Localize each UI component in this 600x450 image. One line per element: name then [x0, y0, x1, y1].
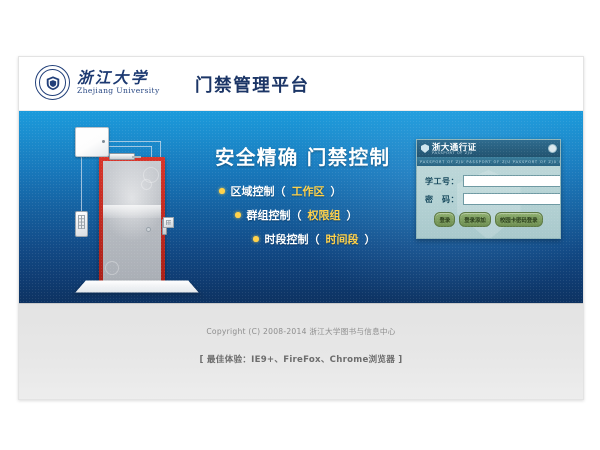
- user-id-row: 学工号：: [425, 175, 552, 187]
- login-panel-titlebar: 浙大通行证 PASSPORT OF ZJU: [417, 140, 560, 157]
- feature-item-time-control: 时段控制（时间段）: [253, 231, 376, 247]
- login-panel-subtitle: PASSPORT OF ZJU: [432, 151, 473, 155]
- logo-english-name: Zhejiang University: [77, 87, 160, 95]
- door-knob-icon: [146, 227, 151, 232]
- door-frame: [99, 157, 165, 285]
- feature-text-highlight: 时间段: [326, 231, 359, 247]
- page-container: 浙江大学 Zhejiang University 门禁管理平台: [18, 56, 584, 400]
- copyright-text: Copyright (C) 2008-2014 浙江大学图书与信息中心: [19, 304, 583, 337]
- gear-decoration-icon: [141, 179, 152, 190]
- gear-decoration-icon: [105, 261, 119, 275]
- login-form: 学工号： 密 码： 登录 登录添加 校园卡密码登录: [417, 166, 560, 227]
- door-slab: [103, 161, 161, 285]
- page-title: 门禁管理平台: [195, 72, 310, 97]
- banner-headline: 安全精确 门禁控制: [215, 141, 390, 170]
- card-reader-icon: [163, 217, 174, 228]
- feature-text-highlight: 权限组: [308, 207, 341, 223]
- bullet-dot-icon: [219, 188, 225, 194]
- browser-recommendation-text: [ 最佳体验：IE9+、FireFox、Chrome浏览器 ]: [19, 337, 583, 365]
- feature-text-main: 时段控制（: [265, 231, 320, 247]
- passport-watermark-strip: PASSPORT OF ZJU PASSPORT OF ZJU PASSPORT…: [417, 157, 560, 166]
- user-id-field[interactable]: [463, 175, 561, 187]
- passport-shield-icon: [421, 144, 429, 153]
- feature-text-highlight: 工作区: [292, 183, 325, 199]
- user-id-label: 学工号：: [425, 176, 459, 187]
- site-footer: Copyright (C) 2008-2014 浙江大学图书与信息中心 [ 最佳…: [19, 303, 583, 400]
- feature-item-area-control: 区域控制（工作区）: [219, 183, 376, 199]
- feature-item-group-control: 群组控制（权限组）: [235, 207, 376, 223]
- feature-text-main: 区域控制（: [231, 183, 286, 199]
- hero-banner: 安全精确 门禁控制 区域控制（工作区） 群组控制（权限组） 时段控制（时间段） …: [19, 111, 583, 303]
- university-logo[interactable]: 浙江大学 Zhejiang University: [35, 65, 160, 100]
- seal-shield-glyph: [45, 75, 60, 90]
- feature-text-tail: ）: [331, 183, 342, 199]
- keypad-reader-icon: [75, 211, 88, 237]
- bullet-dot-icon: [235, 212, 241, 218]
- password-row: 密 码：: [425, 193, 552, 205]
- zju-seal-icon: [35, 65, 70, 100]
- floor-platform: [75, 281, 198, 293]
- login-add-button[interactable]: 登录添加: [459, 212, 491, 227]
- bullet-dot-icon: [253, 236, 259, 242]
- feature-text-tail: ）: [347, 207, 358, 223]
- login-button-row: 登录 登录添加 校园卡密码登录: [425, 212, 552, 227]
- titlebar-button-icon[interactable]: [548, 144, 557, 153]
- wire-segment: [109, 146, 152, 147]
- logo-chinese-name: 浙江大学: [77, 70, 160, 86]
- controller-box-icon: [75, 127, 109, 157]
- feature-text-tail: ）: [365, 231, 376, 247]
- wire-segment: [81, 157, 82, 211]
- login-button[interactable]: 登录: [434, 212, 455, 227]
- campus-card-login-button[interactable]: 校园卡密码登录: [495, 212, 543, 227]
- password-label: 密 码：: [425, 194, 459, 205]
- feature-text-main: 群组控制（: [247, 207, 302, 223]
- door-access-control-illustration: [55, 119, 215, 301]
- password-field[interactable]: [463, 193, 561, 205]
- site-header: 浙江大学 Zhejiang University 门禁管理平台: [19, 57, 583, 111]
- login-panel: 浙大通行证 PASSPORT OF ZJU PASSPORT OF ZJU PA…: [416, 139, 561, 239]
- door-highlight-band: [103, 205, 161, 218]
- feature-list: 区域控制（工作区） 群组控制（权限组） 时段控制（时间段）: [219, 183, 376, 247]
- door-closer-icon: [109, 153, 135, 160]
- wire-segment: [109, 141, 161, 142]
